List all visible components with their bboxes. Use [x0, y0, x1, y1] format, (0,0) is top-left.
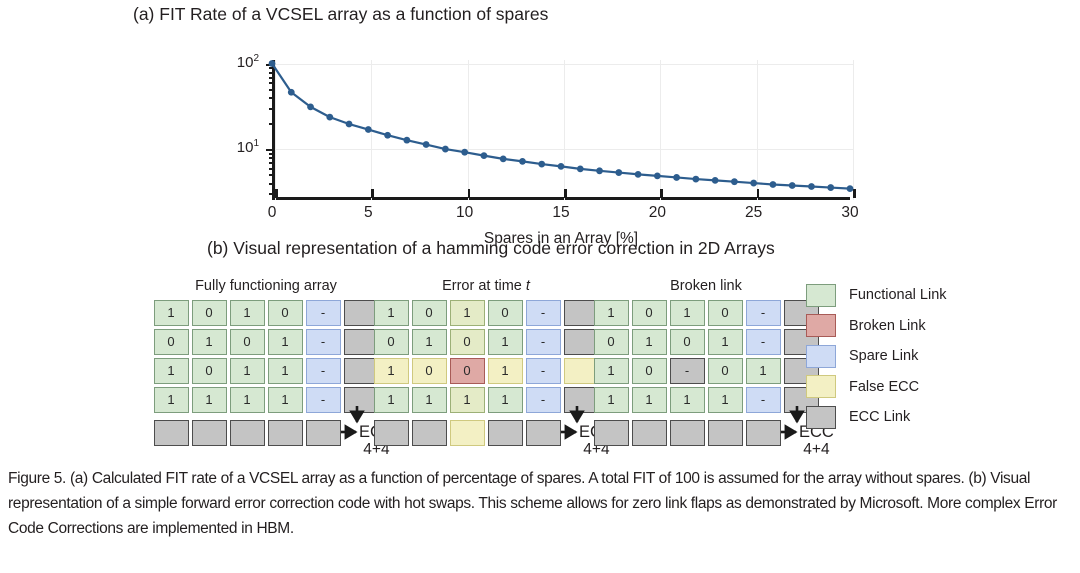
- array-cell-spare[interactable]: -: [526, 387, 561, 413]
- chart-x-tick-label: 30: [835, 204, 865, 222]
- array-cell-data[interactable]: 1: [268, 387, 303, 413]
- array-cell-data[interactable]: 1: [192, 329, 227, 355]
- array-grid-caption: Broken link: [592, 278, 820, 294]
- array-cell-spare[interactable]: -: [526, 358, 561, 384]
- array-cell-data[interactable]: 1: [230, 300, 265, 326]
- array-cell-data[interactable]: 1: [670, 300, 705, 326]
- array-cell-data[interactable]: 0: [230, 329, 265, 355]
- array-ecc-row: [592, 418, 782, 447]
- array-cell-data[interactable]: 1: [594, 300, 629, 326]
- array-cell-data[interactable]: 1: [632, 387, 667, 413]
- array-ecc-cell-ecc[interactable]: [374, 420, 409, 446]
- array-cell-data[interactable]: 0: [708, 300, 743, 326]
- chart-x-tick-label: 5: [353, 204, 383, 222]
- array-ecc-cell-ecc[interactable]: [192, 420, 227, 446]
- array-cell-broken[interactable]: 0: [450, 358, 485, 384]
- array-grid-row: 1010-: [372, 298, 600, 327]
- figure-caption: Figure 5. (a) Calculated FIT rate of a V…: [8, 466, 1070, 541]
- legend-item: Broken Link: [806, 311, 947, 342]
- array-grid-row: 0101-: [372, 327, 600, 356]
- array-grid-row: 0101-: [592, 327, 820, 356]
- array-cell-data[interactable]: 1: [708, 329, 743, 355]
- array-ecc-cell-ecc[interactable]: [412, 420, 447, 446]
- legend-label: ECC Link: [849, 409, 910, 425]
- array-ecc-cell-ecc[interactable]: [708, 420, 743, 446]
- array-ecc-cell-ecc[interactable]: [746, 420, 781, 446]
- chart-x-tick-label: 10: [450, 204, 480, 222]
- chart-y-tick-label: 101: [217, 138, 259, 156]
- array-grid-row: 1010-: [152, 298, 380, 327]
- array-cell-false-green[interactable]: 0: [450, 329, 485, 355]
- chart-x-tick-label: 15: [546, 204, 576, 222]
- array-ecc-cell-ecc[interactable]: [154, 420, 189, 446]
- array-cell-data[interactable]: 0: [632, 300, 667, 326]
- chart-series-fit-rate: [272, 60, 852, 202]
- array-ecc-cell-false[interactable]: [450, 420, 485, 446]
- array-cell-spare[interactable]: -: [306, 358, 341, 384]
- legend-swatch: [806, 284, 836, 307]
- legend-label: Spare Link: [849, 348, 918, 364]
- array-cell-spare[interactable]: -: [306, 387, 341, 413]
- chart-x-tick-label: 25: [739, 204, 769, 222]
- panel-a-title: (a) FIT Rate of a VCSEL array as a funct…: [133, 4, 548, 25]
- array-cell-data[interactable]: 1: [488, 329, 523, 355]
- array-cell-data[interactable]: 1: [374, 300, 409, 326]
- legend-item: Functional Link: [806, 280, 947, 311]
- array-cell-spare[interactable]: -: [746, 387, 781, 413]
- chart-x-tick-label: 0: [257, 204, 287, 222]
- array-cell-data[interactable]: 1: [708, 387, 743, 413]
- array-ecc-cell-ecc[interactable]: [670, 420, 705, 446]
- array-cell-data[interactable]: 1: [230, 387, 265, 413]
- array-cell-data[interactable]: 1: [746, 358, 781, 384]
- array-cell-spare[interactable]: -: [526, 300, 561, 326]
- figure-5: (a) FIT Rate of a VCSEL array as a funct…: [0, 0, 1080, 573]
- array-grid-row: 10-01: [592, 356, 820, 385]
- legend-swatch: [806, 375, 836, 398]
- array-cell-false[interactable]: 1: [374, 358, 409, 384]
- array-cell-false[interactable]: 1: [488, 358, 523, 384]
- legend-item: ECC Link: [806, 402, 947, 433]
- array-cell-data[interactable]: 1: [268, 358, 303, 384]
- array-cell-ecc[interactable]: -: [670, 358, 705, 384]
- array-ecc-cell-ecc[interactable]: [632, 420, 667, 446]
- panel-b-title: (b) Visual representation of a hamming c…: [207, 238, 775, 259]
- array-cell-data[interactable]: 1: [594, 358, 629, 384]
- array-cell-data[interactable]: 0: [670, 329, 705, 355]
- array-cell-spare[interactable]: -: [306, 329, 341, 355]
- array-cell-data[interactable]: 1: [268, 329, 303, 355]
- array-ecc-cell-ecc[interactable]: [268, 420, 303, 446]
- array-cell-data[interactable]: 0: [594, 329, 629, 355]
- array-ecc-cell-ecc[interactable]: [230, 420, 265, 446]
- array-cell-data[interactable]: 1: [192, 387, 227, 413]
- array-cell-false-green[interactable]: 1: [450, 387, 485, 413]
- array-cell-data[interactable]: 1: [670, 387, 705, 413]
- array-cell-data[interactable]: 1: [154, 358, 189, 384]
- array-ecc-cell-ecc[interactable]: [594, 420, 629, 446]
- array-cell-spare[interactable]: -: [746, 329, 781, 355]
- legend-label: False ECC: [849, 379, 919, 395]
- array-grid-row: 1001-: [372, 356, 600, 385]
- array-cell-data[interactable]: 1: [412, 387, 447, 413]
- array-ecc-row: [372, 418, 562, 447]
- array-cell-data[interactable]: 1: [154, 387, 189, 413]
- array-cell-spare[interactable]: -: [526, 329, 561, 355]
- array-cell-false-green[interactable]: 1: [450, 300, 485, 326]
- legend-swatch: [806, 406, 836, 429]
- legend: Functional LinkBroken LinkSpare LinkFals…: [806, 280, 947, 433]
- ecc-sum-text: 4+4: [799, 441, 834, 458]
- array-cell-data[interactable]: 1: [154, 300, 189, 326]
- fit-rate-chart: Fit Rate of VCSEL Array Spares in an Arr…: [0, 34, 880, 209]
- chart-y-tick-label: 102: [217, 53, 259, 71]
- array-cell-data[interactable]: 0: [632, 358, 667, 384]
- array-cell-data[interactable]: 1: [412, 329, 447, 355]
- chart-x-tick: [853, 189, 856, 198]
- legend-swatch: [806, 345, 836, 368]
- array-cell-data[interactable]: 0: [154, 329, 189, 355]
- array-cell-spare[interactable]: -: [306, 300, 341, 326]
- array-grid-rows: 1010-0101-1001-1111-: [372, 298, 600, 414]
- array-ecc-cell-ecc[interactable]: [306, 420, 341, 446]
- array-cell-data[interactable]: 1: [488, 387, 523, 413]
- array-cell-data[interactable]: 0: [192, 300, 227, 326]
- array-grid-row: 0101-: [152, 327, 380, 356]
- array-cell-data[interactable]: 0: [412, 300, 447, 326]
- legend-item: False ECC: [806, 372, 947, 403]
- chart-x-tick-label: 20: [642, 204, 672, 222]
- array-ecc-cell-ecc[interactable]: [526, 420, 561, 446]
- array-cell-spare[interactable]: -: [746, 300, 781, 326]
- array-grid-caption: Error at time t: [372, 278, 600, 294]
- array-ecc-row: [152, 418, 342, 447]
- array-cell-data[interactable]: 1: [374, 387, 409, 413]
- legend-label: Broken Link: [849, 318, 926, 334]
- hamming-code-diagram: Fully functioning array1010-0101-1011-11…: [0, 262, 1080, 462]
- array-cell-data[interactable]: 0: [268, 300, 303, 326]
- array-cell-data[interactable]: 0: [488, 300, 523, 326]
- array-cell-data[interactable]: 0: [192, 358, 227, 384]
- array-grid-row: 1010-: [592, 298, 820, 327]
- array-cell-false[interactable]: 0: [412, 358, 447, 384]
- array-grid-rows: 1010-0101-10-011111-: [592, 298, 820, 414]
- array-cell-data[interactable]: 1: [230, 358, 265, 384]
- chart-gridline-vertical: [853, 60, 854, 200]
- array-grid-caption: Fully functioning array: [152, 278, 380, 294]
- array-ecc-cell-ecc[interactable]: [488, 420, 523, 446]
- array-grid-row: 1011-: [152, 356, 380, 385]
- array-cell-data[interactable]: 1: [632, 329, 667, 355]
- legend-swatch: [806, 314, 836, 337]
- array-cell-data[interactable]: 0: [374, 329, 409, 355]
- legend-item: Spare Link: [806, 341, 947, 372]
- array-grid-rows: 1010-0101-1011-1111-: [152, 298, 380, 414]
- array-cell-data[interactable]: 1: [594, 387, 629, 413]
- legend-label: Functional Link: [849, 287, 947, 303]
- array-cell-data[interactable]: 0: [708, 358, 743, 384]
